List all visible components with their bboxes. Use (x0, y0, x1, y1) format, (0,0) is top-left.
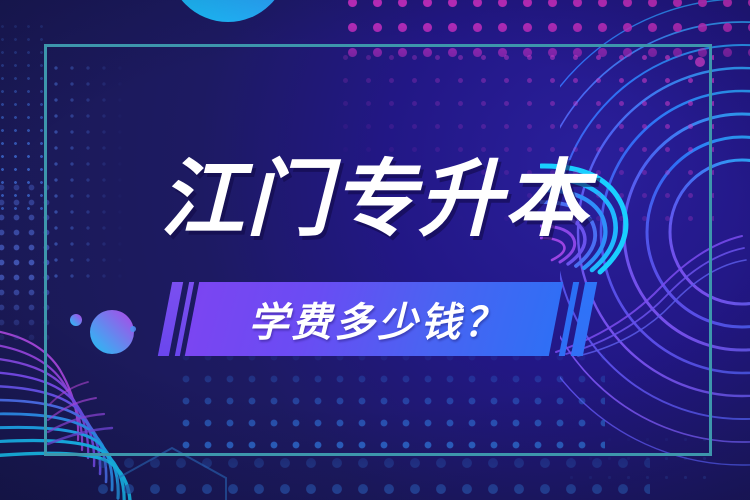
page-title: 江门专升本 (0, 157, 750, 241)
promotional-banner: 江门专升本 学费多少钱？ (0, 0, 750, 500)
subtitle-text: 学费多少钱？ (165, 282, 590, 356)
subtitle-ribbon: 学费多少钱？ (165, 282, 590, 356)
teal-border-frame (44, 44, 712, 456)
